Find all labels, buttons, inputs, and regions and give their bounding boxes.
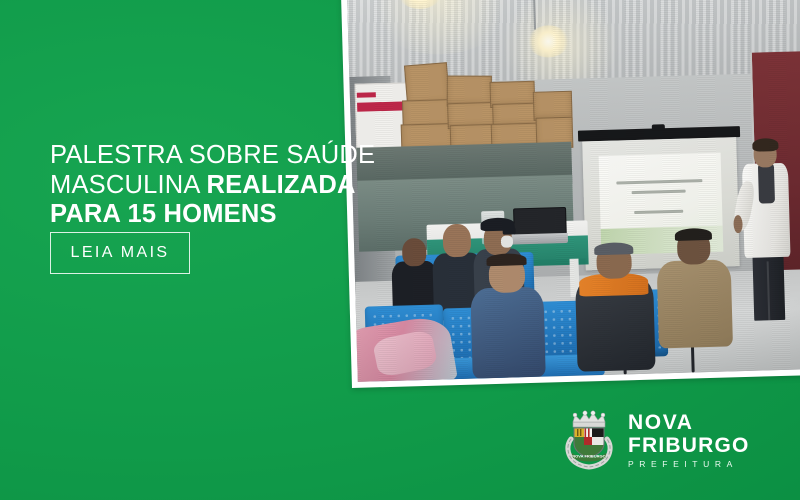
- presenter-shirt: [758, 164, 776, 204]
- headline-line-2-thin: MASCULINA: [50, 171, 206, 199]
- svg-text:NOVA FRIBURGO: NOVA FRIBURGO: [572, 454, 606, 459]
- hair: [486, 253, 526, 266]
- presenter-hair: [752, 138, 778, 151]
- hair: [594, 242, 633, 256]
- headline-line-2: MASCULINA REALIZADA: [50, 171, 350, 201]
- logo-line-friburgo: FRIBURGO: [628, 435, 750, 456]
- attendee: [469, 255, 546, 378]
- banner-root: PALESTRA SOBRE SAÚDE MASCULINA REALIZADA…: [0, 0, 800, 500]
- lecture-photo: [346, 0, 800, 382]
- headline: PALESTRA SOBRE SAÚDE MASCULINA REALIZADA…: [50, 141, 350, 230]
- prefeitura-logo[interactable]: NOVA FRIBURGO NOVA FRIBURGO PREFEITURA: [561, 409, 750, 471]
- logo-line-prefeitura: PREFEITURA: [628, 460, 750, 469]
- headline-line-1: PALESTRA SOBRE SAÚDE: [50, 141, 350, 171]
- cap-brim: [503, 228, 516, 235]
- face-mask: [501, 236, 513, 248]
- leia-mais-button[interactable]: LEIA MAIS: [50, 232, 190, 274]
- box-red-label: [357, 102, 407, 112]
- nova-friburgo-coat-of-arms-icon: NOVA FRIBURGO: [561, 409, 617, 471]
- photo-frame: [340, 0, 800, 388]
- hair: [675, 227, 712, 241]
- logo-wordmark: NOVA FRIBURGO PREFEITURA: [628, 412, 750, 469]
- logo-line-nova: NOVA: [628, 412, 750, 433]
- attendee: [574, 244, 655, 372]
- attendee: [656, 229, 733, 348]
- presenter: [738, 140, 798, 321]
- presenter-legs: [752, 251, 785, 320]
- headline-line-3: PARA 15 HOMENS: [50, 200, 350, 230]
- headline-line-2-bold: REALIZADA: [206, 171, 355, 199]
- box-red-label-small: [356, 92, 375, 97]
- cardboard-boxes-group: [353, 54, 571, 152]
